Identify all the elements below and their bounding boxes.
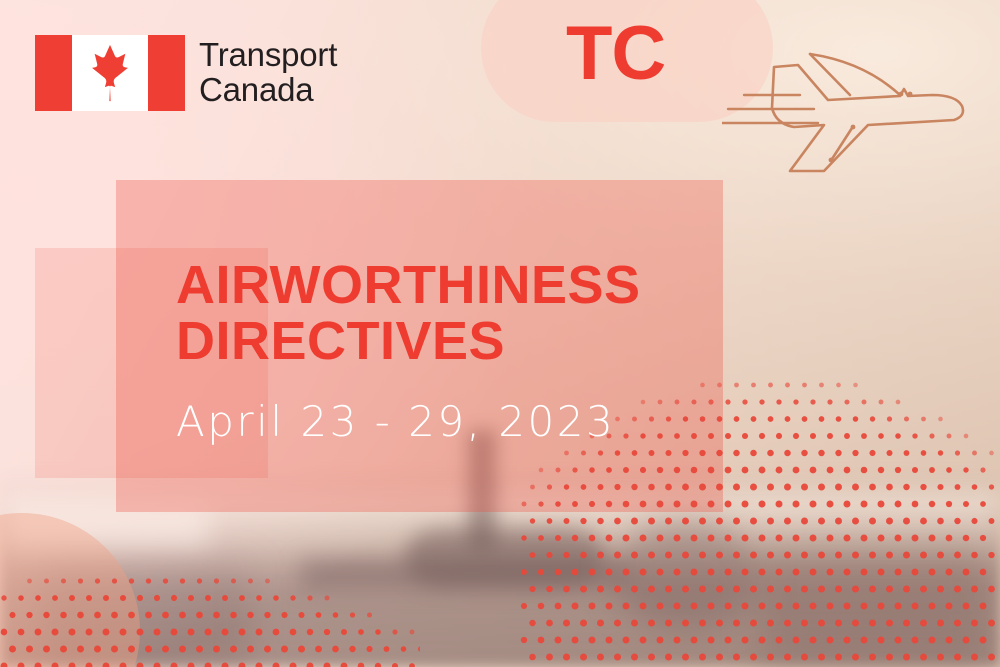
airworthiness-directives-banner: Transport Canada TC AIRWORTHINESS DIRECT… <box>0 0 1000 667</box>
flag-bar-left <box>35 35 72 111</box>
maple-leaf-icon <box>78 41 142 105</box>
transport-canada-logo: Transport Canada <box>35 35 337 111</box>
page-title: AIRWORTHINESS DIRECTIVES <box>176 258 736 369</box>
headline-block: AIRWORTHINESS DIRECTIVES April 23 - 29, … <box>176 258 736 446</box>
transport-canada-wordmark: Transport Canada <box>199 38 337 107</box>
flag-bar-right <box>148 35 185 111</box>
speed-lines-icon <box>722 86 912 136</box>
date-range: April 23 - 29, 2023 <box>176 397 736 446</box>
tc-monogram: TC <box>566 16 665 92</box>
canadian-flag <box>35 35 185 111</box>
